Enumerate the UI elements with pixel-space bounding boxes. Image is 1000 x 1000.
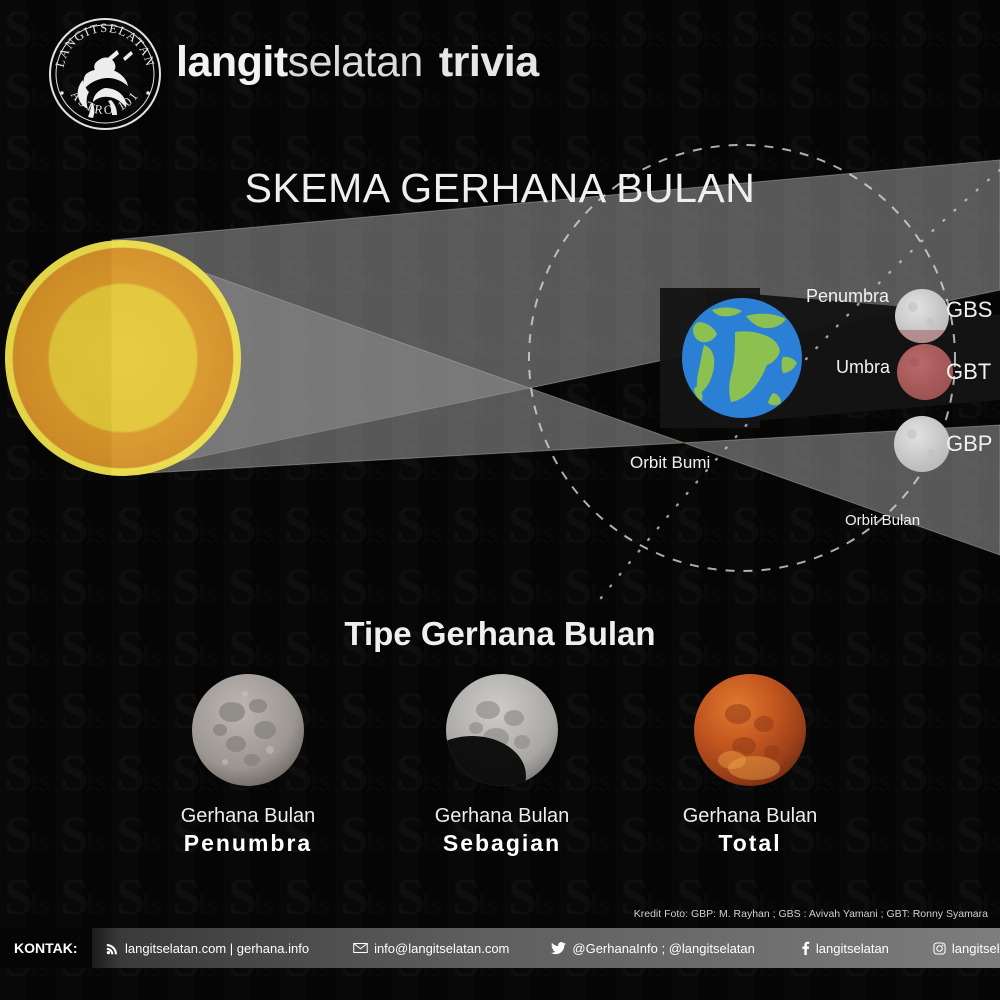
label-orbit-bumi: Orbit Bumi — [630, 453, 710, 473]
moon-partial-photo — [444, 672, 560, 788]
type-line1: Gerhana Bulan — [181, 805, 316, 827]
twitter-icon — [551, 942, 566, 955]
footer-item-text: langitselatanmedia — [952, 941, 1000, 956]
photo-credit: Kredit Foto: GBP: M. Rayhan ; GBS : Aviv… — [634, 908, 988, 920]
footer-item-email[interactable]: info@langitselatan.com — [353, 941, 509, 956]
label-gbt: GBT — [946, 359, 991, 385]
brand-bold: langit — [176, 38, 288, 86]
footer-item-facebook[interactable]: langitselatan — [801, 941, 889, 956]
type-item-total: Gerhana Bulan Total — [600, 672, 900, 858]
facebook-icon — [801, 941, 810, 955]
earth-icon — [682, 298, 802, 418]
brand-thin: selatan — [288, 38, 423, 86]
label-umbra: Umbra — [836, 357, 890, 378]
brand-suffix: trivia — [439, 38, 539, 86]
envelope-icon — [353, 942, 368, 954]
footer-item-text: info@langitselatan.com — [374, 941, 509, 956]
type-line2: Total — [600, 829, 900, 858]
footer-item-instagram[interactable]: langitselatanmedia — [933, 941, 1000, 956]
moon-gbp-icon — [894, 416, 950, 472]
eclipse-types-row: Gerhana Bulan Penumbra — [0, 672, 1000, 872]
moon-gbt-icon — [897, 344, 953, 400]
label-orbit-bulan: Orbit Bulan — [845, 512, 920, 529]
label-penumbra: Penumbra — [806, 286, 889, 307]
instagram-icon — [933, 942, 946, 955]
rss-icon — [106, 942, 119, 955]
footer-item-text: @GerhanaInfo ; @langitselatan — [572, 941, 755, 956]
type-caption-total: Gerhana Bulan Total — [600, 804, 900, 858]
header: LANGITSELATAN ASTRO 101 langitselatantri… — [0, 0, 1000, 140]
moon-penumbral-photo — [190, 672, 306, 788]
brand-wordmark: langitselatantrivia — [176, 38, 539, 87]
moon-total-photo — [692, 672, 808, 788]
footer-item-twitter[interactable]: @GerhanaInfo ; @langitselatan — [551, 941, 755, 956]
langitselatan-seal-icon: LANGITSELATAN ASTRO 101 — [45, 14, 165, 134]
label-gbp: GBP — [946, 431, 992, 457]
infographic-root: S ls LANGITSELATAN ASTRO 101 — [0, 0, 1000, 1000]
footer-item-website[interactable]: langitselatan.com | gerhana.info — [106, 941, 309, 956]
scheme-title: SKEMA GERHANA BULAN — [0, 165, 1000, 212]
footer-item-text: langitselatan.com | gerhana.info — [125, 941, 309, 956]
types-title: Tipe Gerhana Bulan — [0, 615, 1000, 653]
type-line1: Gerhana Bulan — [435, 805, 570, 827]
footer-label: KONTAK: — [0, 928, 92, 968]
type-line1: Gerhana Bulan — [683, 805, 818, 827]
label-gbs: GBS — [946, 297, 992, 323]
sun-icon — [5, 240, 241, 476]
contact-footer: KONTAK: langitselatan.com | gerhana.info… — [0, 928, 1000, 968]
footer-item-text: langitselatan — [816, 941, 889, 956]
